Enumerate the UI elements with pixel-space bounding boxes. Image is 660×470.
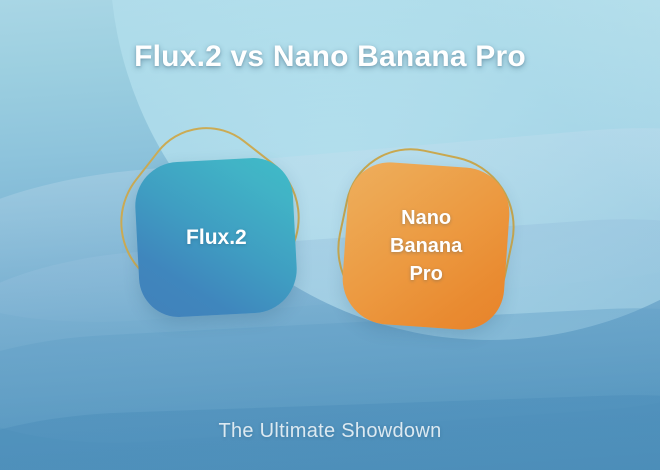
card-flux[interactable]: Flux.2 xyxy=(133,156,299,319)
card-nano-label: Nano Banana Pro xyxy=(390,204,462,288)
card-unit-flux: Flux.2 xyxy=(118,130,318,345)
poster-canvas: Flux.2 vs Nano Banana Pro Flux.2 Nano Ba… xyxy=(0,0,660,470)
card-unit-nano: Nano Banana Pro xyxy=(328,140,528,355)
card-nano-banana-pro[interactable]: Nano Banana Pro xyxy=(340,160,513,333)
card-flux-label: Flux.2 xyxy=(186,226,247,250)
comparison-cards: Flux.2 Nano Banana Pro xyxy=(0,0,660,470)
poster-subtitle: The Ultimate Showdown xyxy=(0,420,660,443)
